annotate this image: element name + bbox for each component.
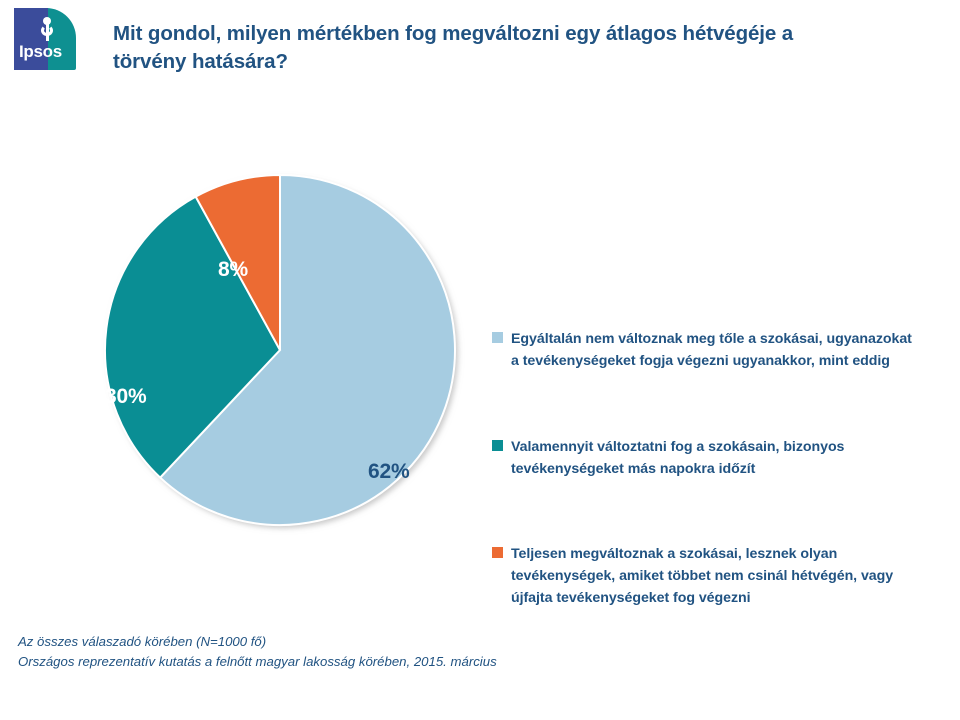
pie-chart: 62% 30% 8% bbox=[100, 170, 470, 540]
legend-swatch-3-icon bbox=[492, 547, 503, 558]
pie-slice-label-1: 62% bbox=[368, 460, 409, 484]
pie-slice-label-2: 30% bbox=[105, 385, 146, 409]
legend-swatch-1-icon bbox=[492, 332, 503, 343]
page-title: Mit gondol, milyen mértékben fog megvált… bbox=[113, 20, 813, 75]
legend-item-3[interactable]: Teljesen megváltoznak a szokásai, leszne… bbox=[492, 543, 921, 609]
logo-wordmark: Ipsos bbox=[19, 42, 62, 62]
footer-line-1: Az összes válaszadó körében (N=1000 fő) bbox=[18, 632, 497, 652]
footer-line-2: Országos reprezentatív kutatás a felnőtt… bbox=[18, 652, 497, 672]
legend-item-2[interactable]: Valamennyit változtatni fog a szokásain,… bbox=[492, 436, 921, 480]
legend-label-3: Teljesen megváltoznak a szokásai, leszne… bbox=[511, 543, 921, 609]
chart-area: 62% 30% 8% Egyáltalán nem változnak meg … bbox=[0, 110, 960, 600]
legend-item-1[interactable]: Egyáltalán nem változnak meg tőle a szok… bbox=[492, 328, 921, 372]
footer-note: Az összes válaszadó körében (N=1000 fő) … bbox=[18, 632, 497, 672]
legend-label-1: Egyáltalán nem változnak meg tőle a szok… bbox=[511, 328, 921, 372]
pie-chart-svg bbox=[100, 170, 470, 540]
pie-slice-label-3: 8% bbox=[218, 258, 248, 282]
ipsos-logo: Ipsos bbox=[14, 8, 76, 70]
logo-figure-icon bbox=[41, 17, 53, 41]
legend-swatch-2-icon bbox=[492, 440, 503, 451]
legend-label-2: Valamennyit változtatni fog a szokásain,… bbox=[511, 436, 921, 480]
